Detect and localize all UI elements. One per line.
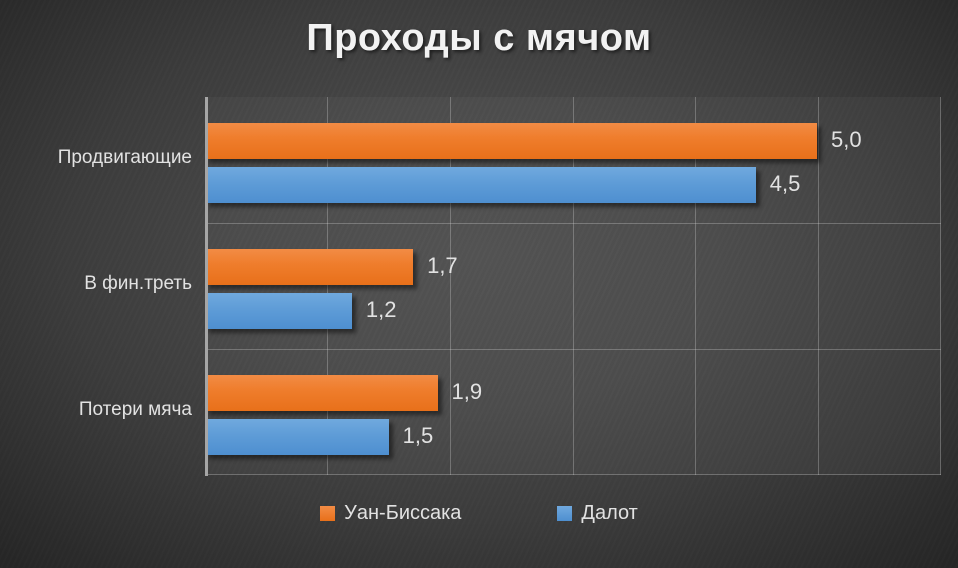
value-axis-line bbox=[205, 97, 208, 476]
legend-label-1: Далот bbox=[581, 502, 637, 525]
gridline-x-5 bbox=[818, 97, 819, 475]
chart-container: Проходы с мячом 5,04,51,71,21,91,5 Продв… bbox=[0, 0, 958, 568]
value-label-0-0: 5,0 bbox=[831, 127, 862, 153]
gridline-baseline bbox=[205, 474, 941, 475]
value-label-0-1: 1,7 bbox=[427, 253, 458, 279]
chart-title: Проходы с мячом bbox=[0, 17, 958, 60]
legend-swatch-icon-0 bbox=[320, 506, 335, 521]
chart-legend: Уан-Биссака Далот bbox=[0, 502, 958, 525]
legend-item-1[interactable]: Далот bbox=[557, 502, 637, 525]
value-label-1-0: 4,5 bbox=[770, 171, 801, 197]
bar-1-2[interactable] bbox=[205, 419, 389, 455]
bar-1-0[interactable] bbox=[205, 167, 756, 203]
bar-1-1[interactable] bbox=[205, 293, 352, 329]
category-label-0: Продвигающие bbox=[10, 147, 205, 169]
plot-area: 5,04,51,71,21,91,5 bbox=[205, 97, 941, 475]
value-label-0-2: 1,9 bbox=[452, 379, 483, 405]
value-label-1-2: 1,5 bbox=[403, 423, 434, 449]
bar-0-0[interactable] bbox=[205, 123, 817, 159]
legend-swatch-icon-1 bbox=[557, 506, 572, 521]
gridline-category-2 bbox=[205, 349, 941, 350]
category-axis-labels: ПродвигающиеВ фин.третьПотери мяча bbox=[0, 97, 205, 475]
legend-item-0[interactable]: Уан-Биссака bbox=[320, 502, 461, 525]
bar-0-1[interactable] bbox=[205, 249, 413, 285]
bar-0-2[interactable] bbox=[205, 375, 438, 411]
gridline-category-1 bbox=[205, 223, 941, 224]
category-label-2: Потери мяча bbox=[10, 399, 205, 421]
category-label-1: В фин.треть bbox=[10, 273, 205, 295]
gridline-x-6 bbox=[940, 97, 941, 475]
legend-label-0: Уан-Биссака bbox=[344, 502, 461, 525]
value-label-1-1: 1,2 bbox=[366, 297, 397, 323]
